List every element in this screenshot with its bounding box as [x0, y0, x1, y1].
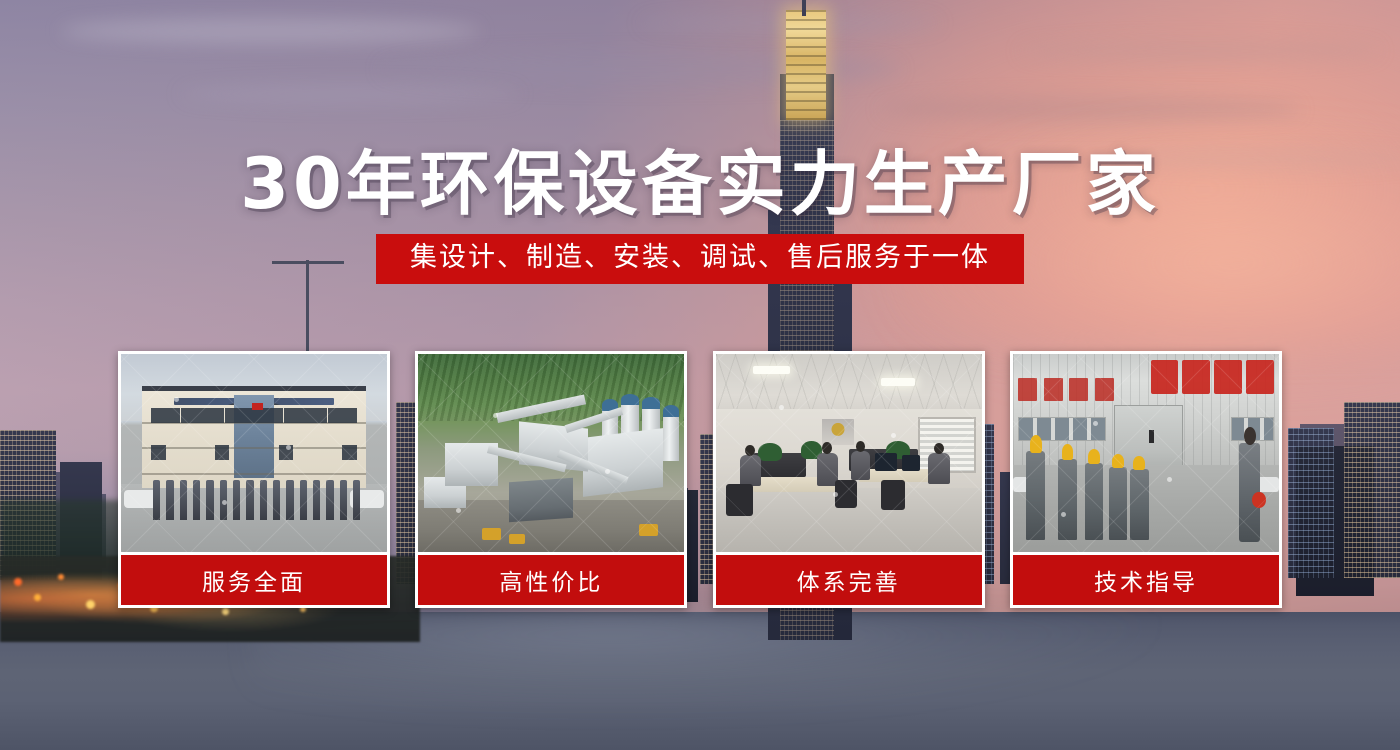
subtitle-banner: 集设计、制造、安装、调试、售后服务于一体 [376, 234, 1024, 284]
promo-banner: 30年环保设备实力生产厂家 集设计、制造、安装、调试、售后服务于一体 [0, 0, 1400, 750]
feature-card-caption: 技术指导 [1013, 555, 1279, 605]
company-office-building-photo [121, 354, 387, 552]
feature-card-value[interactable]: 高性价比 [415, 351, 687, 608]
tower-golden-crown [786, 10, 826, 120]
feature-card-caption: 高性价比 [418, 555, 684, 605]
page-title: 30年环保设备实力生产厂家 [0, 128, 1400, 229]
aerial-industrial-plant-photo [418, 354, 684, 552]
feature-card-service[interactable]: 服务全面 [118, 351, 390, 608]
feature-card-system[interactable]: 体系完善 [713, 351, 985, 608]
feature-card-caption: 体系完善 [716, 555, 982, 605]
feature-card-list: 服务全面 [118, 351, 1282, 608]
workers-briefing-photo [1013, 354, 1279, 552]
tower-spire [802, 0, 806, 16]
construction-crane-jib [272, 261, 344, 264]
feature-card-guidance[interactable]: 技术指导 [1010, 351, 1282, 608]
office-interior-photo [716, 354, 982, 552]
feature-card-caption: 服务全面 [121, 555, 387, 605]
